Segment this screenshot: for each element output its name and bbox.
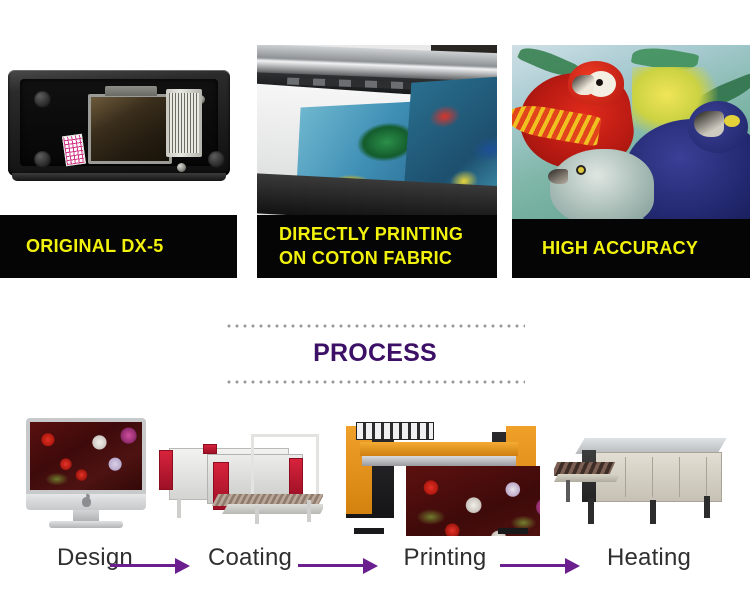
printer-foot xyxy=(354,528,384,534)
coating-machine-leg xyxy=(177,498,181,518)
heating-machine-leg xyxy=(588,498,594,524)
printing-machine-photo xyxy=(344,414,540,536)
coating-machine-red-panel xyxy=(203,444,217,454)
heating-machine-leg xyxy=(566,480,570,502)
printhead-mount-hole-left-bottom xyxy=(34,151,51,168)
imac-design-photo xyxy=(22,414,150,529)
heating-machine-photo xyxy=(554,424,730,530)
printhead-sticker xyxy=(62,134,86,166)
grey-parrot-beak xyxy=(548,169,568,184)
feature-caption-text: ORIGINAL DX-5 xyxy=(26,235,164,259)
apple-logo-icon xyxy=(82,497,91,507)
printhead-body xyxy=(8,70,230,176)
arrow-printing-to-heating xyxy=(500,558,582,574)
imac-screen xyxy=(26,418,146,494)
coating-machine-leg xyxy=(307,500,311,522)
coating-machine-illustration xyxy=(155,420,323,530)
dotted-rule-top xyxy=(225,324,525,328)
printhead-screw-bottom xyxy=(177,163,186,172)
heating-machine-infeed-tray xyxy=(554,474,620,482)
printhead-mount-hole-left-top xyxy=(34,91,51,108)
printer-top-beam xyxy=(360,442,518,456)
printer-carriage-rail xyxy=(362,456,516,466)
arrow-shaft xyxy=(110,564,178,567)
printhead-base-edge xyxy=(12,173,226,181)
blue-macaw-eye-ring xyxy=(724,115,740,127)
grey-parrot-body xyxy=(550,149,654,219)
process-header: PROCESS xyxy=(0,318,750,390)
imac-illustration xyxy=(22,414,150,529)
printer-output-floral-fabric xyxy=(406,466,540,536)
fabric-printing-photo xyxy=(257,45,497,215)
heating-machine-illustration xyxy=(554,424,730,530)
printhead-ribbon-connector xyxy=(166,89,202,157)
dotted-rule-bottom xyxy=(225,380,525,384)
imac-chin xyxy=(26,494,146,510)
feature-caption-bar: HIGH ACCURACY xyxy=(512,219,750,278)
heating-machine-leg xyxy=(704,496,710,518)
red-macaw-eye xyxy=(596,79,603,86)
arrow-shaft xyxy=(298,564,366,567)
coating-machine-photo xyxy=(155,420,323,530)
printed-parrots-photo xyxy=(512,45,750,219)
arrow-shaft xyxy=(500,564,568,567)
imac-floral-artwork xyxy=(30,422,142,490)
feature-caption-bar: DIRECTLY PRINTING ON COTON FABRIC xyxy=(257,215,497,278)
printer-scene-illustration xyxy=(257,45,497,215)
heating-machine-leg xyxy=(650,500,656,524)
printer-foot xyxy=(498,528,528,534)
coating-machine-red-panel xyxy=(159,450,173,490)
printhead-inner-cavity xyxy=(20,79,218,166)
grey-parrot-eye xyxy=(578,167,584,173)
arrow-head-icon xyxy=(175,558,190,574)
coating-machine-leg xyxy=(255,506,259,524)
blue-macaw-beak xyxy=(694,111,724,137)
printhead-mount-hole-right xyxy=(208,151,225,168)
arrow-design-to-coating xyxy=(110,558,192,574)
printer-ink-cartridges xyxy=(356,422,434,440)
arrow-head-icon xyxy=(363,558,378,574)
printhead-illustration xyxy=(8,70,230,176)
arrow-coating-to-printing xyxy=(298,558,380,574)
feature-caption-text: HIGH ACCURACY xyxy=(542,237,698,261)
arrow-head-icon xyxy=(565,558,580,574)
printhead-nozzle-plate xyxy=(88,94,172,164)
process-steps-row: Design Coating xyxy=(0,396,750,604)
printing-machine-illustration xyxy=(344,414,540,536)
imac-foot xyxy=(49,521,123,528)
feature-row: ORIGINAL DX-5 DIRECTLY PRINTING ON COTON… xyxy=(0,0,750,285)
feature-caption-bar: ORIGINAL DX-5 xyxy=(0,215,237,278)
red-macaw-beak xyxy=(572,75,594,95)
parrot-artwork-illustration xyxy=(512,45,750,219)
process-title: PROCESS xyxy=(313,339,437,368)
dx5-printhead-photo xyxy=(0,32,237,215)
feature-caption-text: DIRECTLY PRINTING ON COTON FABRIC xyxy=(279,223,463,271)
